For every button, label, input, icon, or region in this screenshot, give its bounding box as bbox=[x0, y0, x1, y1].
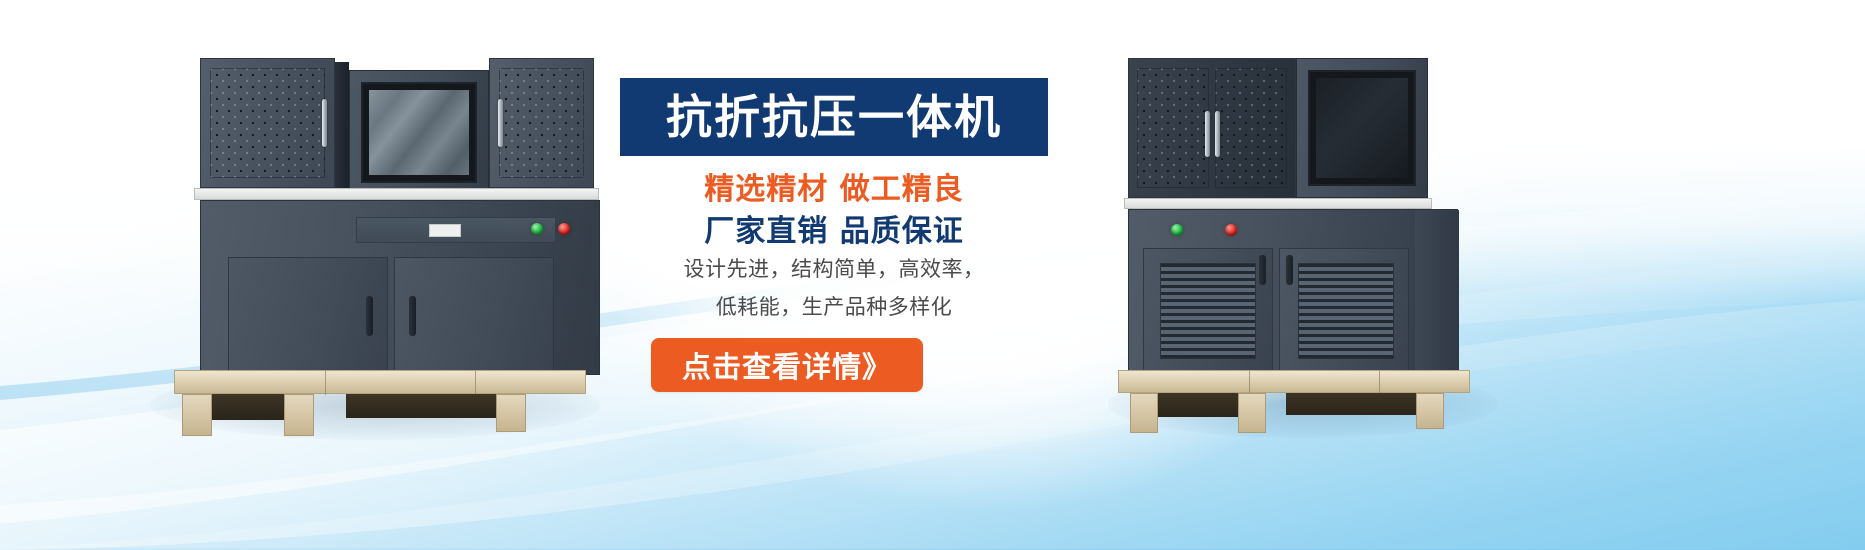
power-indicator-green-light bbox=[1171, 224, 1183, 236]
view-details-button[interactable]: 点击查看详情》 bbox=[651, 338, 923, 392]
control-monitor-housing bbox=[1296, 58, 1428, 198]
side-panel bbox=[1415, 210, 1459, 376]
ventilation-louvers bbox=[1298, 263, 1394, 359]
door-handle-icon bbox=[1259, 255, 1266, 285]
pallet-leg bbox=[284, 394, 314, 436]
pallet-leg bbox=[1238, 393, 1266, 433]
pallet-seam bbox=[1379, 371, 1380, 394]
control-drawer bbox=[356, 217, 556, 243]
lower-cabinet-door-right bbox=[394, 257, 554, 372]
pallet-seam bbox=[475, 371, 476, 395]
perforated-panel bbox=[210, 68, 325, 178]
view-details-button-label: 点击查看详情》 bbox=[682, 344, 892, 386]
cabinet-handle-icon bbox=[1205, 111, 1210, 157]
headline-banner-bar: 抗折抗压一体机 bbox=[620, 78, 1048, 156]
product-photo-left bbox=[160, 40, 590, 430]
door-handle-icon bbox=[1286, 255, 1293, 285]
pallet-gap bbox=[1158, 393, 1238, 417]
perforated-panel bbox=[1137, 68, 1209, 188]
perforated-panel bbox=[499, 68, 584, 178]
lower-cabinet-door-right bbox=[1279, 248, 1409, 373]
door-handle-icon bbox=[409, 296, 416, 336]
cabinet-handle-icon bbox=[1215, 111, 1220, 157]
power-indicator-green-light bbox=[531, 223, 543, 235]
description-line-1: 设计先进，结构简单，高效率， bbox=[620, 253, 1048, 283]
shelf-strip bbox=[194, 188, 599, 200]
monitor-screen bbox=[369, 90, 469, 175]
product-photo-right bbox=[1118, 40, 1488, 430]
pallet-seam bbox=[325, 371, 326, 395]
cabinet-handle-icon bbox=[322, 99, 327, 147]
shelf-strip bbox=[1124, 198, 1432, 209]
pallet-seam bbox=[1249, 371, 1250, 394]
headline-text: 抗折抗压一体机 bbox=[666, 94, 1002, 140]
pallet-leg bbox=[1130, 393, 1158, 433]
power-indicator-red-light bbox=[1225, 224, 1237, 236]
description-line-2: 低耗能，生产品种多样化 bbox=[620, 291, 1048, 321]
perforated-panel bbox=[1215, 68, 1287, 188]
machine-body bbox=[200, 200, 600, 375]
wooden-pallet bbox=[1118, 370, 1470, 393]
pallet-gap bbox=[1286, 393, 1416, 415]
pallet-leg bbox=[496, 394, 526, 432]
lower-cabinet-door-left bbox=[1143, 248, 1273, 373]
machine-body bbox=[1128, 209, 1458, 375]
pallet-leg bbox=[182, 394, 212, 436]
drawer-label-plate bbox=[429, 224, 461, 237]
monitor-bezel bbox=[1308, 70, 1416, 186]
ventilation-louvers bbox=[1160, 263, 1256, 359]
subheadline-primary: 精选精材 做工精良 bbox=[620, 164, 1048, 208]
upper-cabinet-left-side bbox=[335, 62, 349, 188]
pallet-gap bbox=[346, 394, 496, 418]
control-monitor-housing bbox=[349, 70, 489, 195]
door-handle-icon bbox=[366, 296, 373, 336]
subheadline-secondary: 厂家直销 品质保证 bbox=[620, 206, 1048, 250]
pallet-leg bbox=[1416, 393, 1444, 429]
wooden-pallet bbox=[174, 370, 586, 394]
lower-cabinet-door-left bbox=[228, 257, 388, 372]
monitor-bezel bbox=[361, 82, 477, 183]
upper-cabinet-right-door bbox=[489, 58, 594, 188]
promo-banner: 抗折抗压一体机 精选精材 做工精良 厂家直销 品质保证 设计先进，结构简单，高效… bbox=[0, 0, 1865, 550]
monitor-screen bbox=[1316, 78, 1408, 178]
upper-cabinet-doors bbox=[1128, 58, 1296, 198]
pallet-gap bbox=[212, 394, 284, 420]
upper-cabinet-left-door bbox=[200, 58, 335, 188]
cabinet-handle-icon bbox=[498, 99, 503, 147]
power-indicator-red-light bbox=[558, 223, 570, 235]
